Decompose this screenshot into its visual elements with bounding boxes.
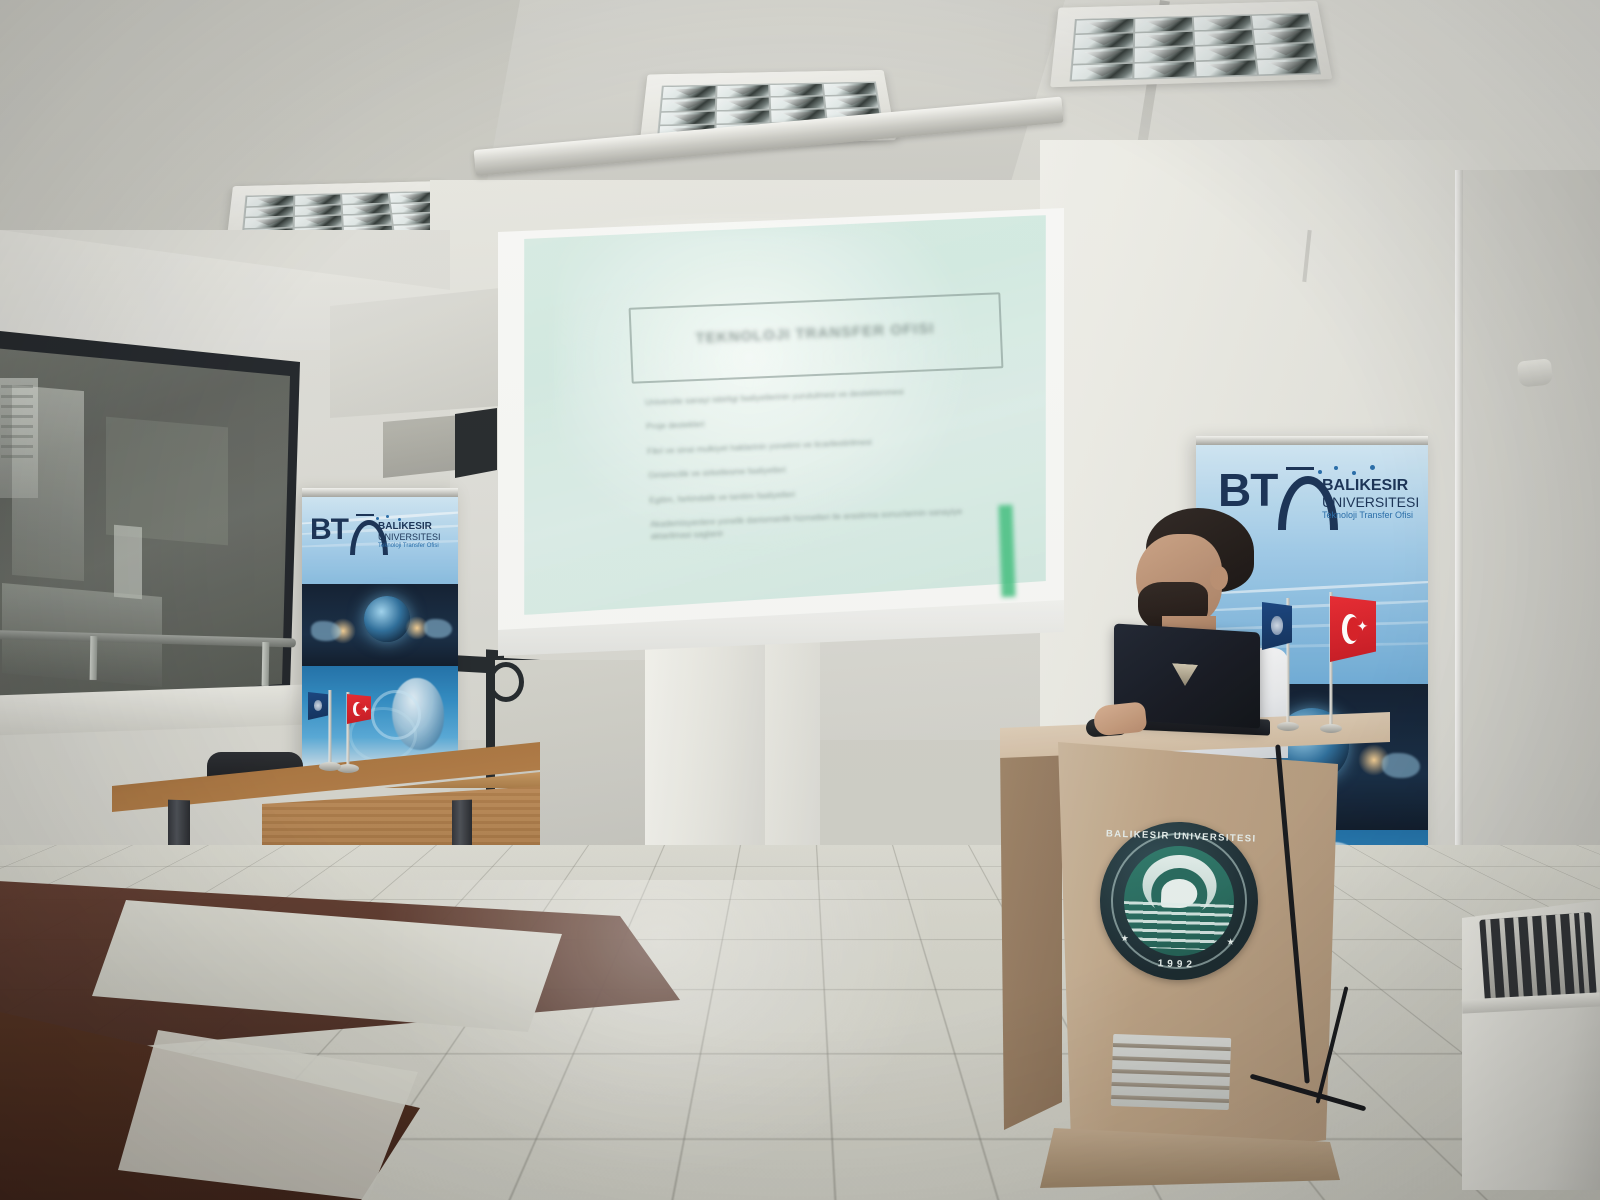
- podium-side: [1000, 730, 1062, 1130]
- university-flag-icon: [1262, 602, 1292, 650]
- presenter-ear: [1210, 566, 1228, 590]
- slide-bullet: Proje destekleri: [646, 407, 986, 433]
- radiator-grille: [1479, 912, 1596, 1002]
- banner-line3: Teknoloji Transfer Ofisi: [378, 543, 439, 549]
- podium-vent-grille: [1111, 1034, 1231, 1110]
- btto-logo: BT BALIKESIR UNIVERSITESI Teknoloji Tran…: [1218, 462, 1422, 532]
- slide-bullet: Egitim, farkindalik ve tanitim faaliyetl…: [649, 481, 989, 507]
- university-emblem: BALIKESIR UNIVERSITESI ★ ★ 1992: [1097, 819, 1260, 982]
- banner-line2: UNIVERSITESI: [378, 533, 441, 542]
- presenter-hand: [1093, 701, 1148, 736]
- ceiling-light-icon: [1050, 1, 1332, 87]
- far-right-wall: [1460, 170, 1600, 960]
- banner-line2: UNIVERSITESI: [1322, 495, 1419, 509]
- slide-bullets: Universite sanayi isbirligi faaliyetleri…: [645, 383, 991, 555]
- window: [0, 318, 310, 748]
- btto-logo: BT BALIKESIR UNIVERSITESI Teknoloji Tran…: [310, 510, 450, 558]
- podium-flag-stand: [1276, 598, 1300, 726]
- banner-tech-band: [302, 584, 458, 668]
- banner-rail: [302, 488, 458, 497]
- wall-corner-edge: [1455, 170, 1463, 960]
- slide-bullet: Akademisyenlere yonelik danismanlik hizm…: [650, 505, 991, 542]
- smoke-detector-icon: [1517, 358, 1554, 387]
- podium-flag-stand: ✦: [1318, 592, 1344, 728]
- banner-line1: BALIKESIR: [1322, 478, 1408, 494]
- emblem-star-icon: ★: [1120, 933, 1128, 944]
- emblem-star-icon: ★: [1226, 937, 1234, 948]
- seminar-room-photo: TEKNOLOJI TRANSFER OFISI Universite sana…: [0, 0, 1600, 1200]
- turkish-flag-icon: ✦: [347, 694, 371, 724]
- banner-rail: [1196, 436, 1428, 445]
- banner-line1: BALIKESIR: [378, 522, 432, 532]
- slide-bullet: Fikri ve sinai mulkiyet haklarinin yonet…: [647, 432, 987, 458]
- desk-flag-stand: [320, 690, 340, 766]
- handrail-post: [90, 636, 98, 680]
- university-flag-icon: [308, 692, 328, 720]
- window-glass: [0, 340, 290, 712]
- handrail-post: [262, 642, 270, 686]
- slide-bullet: Girisimcilik ve sirketlesme faaliyetleri: [648, 456, 988, 482]
- window-latch-icon: [488, 662, 524, 702]
- banner-line3: Teknoloji Transfer Ofisi: [1322, 511, 1413, 520]
- wall-dark-panel: [455, 408, 497, 478]
- turkish-flag-icon: ✦: [1330, 596, 1376, 662]
- wall-soffit: [330, 288, 500, 418]
- window-reflected-poster: [0, 378, 38, 498]
